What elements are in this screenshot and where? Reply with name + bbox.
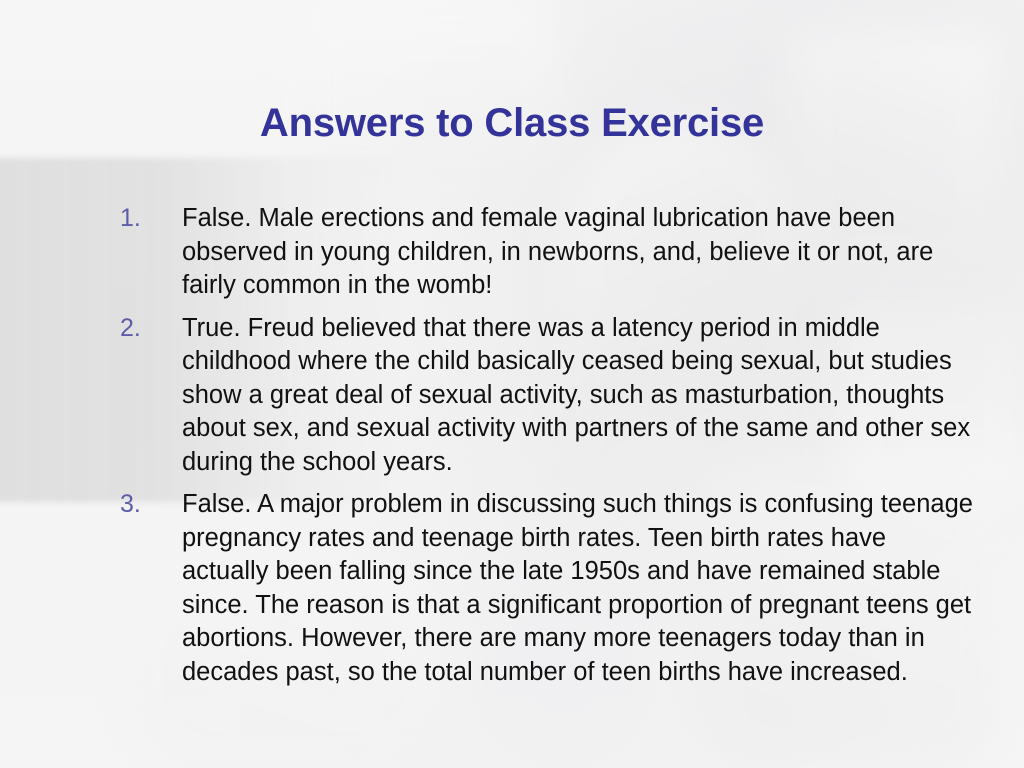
slide-title: Answers to Class Exercise xyxy=(0,101,1024,145)
background-blur-shape xyxy=(300,0,560,180)
list-item-number: 3. xyxy=(120,488,182,522)
list-item: 1. False. Male erections and female vagi… xyxy=(40,202,1024,303)
slide-canvas: Answers to Class Exercise 1. False. Male… xyxy=(0,0,1024,768)
list-item: 2. True. Freud believed that there was a… xyxy=(40,312,1024,480)
list-item-text: False. Male erections and female vaginal… xyxy=(182,202,977,303)
list-item-text: False. A major problem in discussing suc… xyxy=(182,488,978,689)
list-item-text: True. Freud believed that there was a la… xyxy=(182,312,982,480)
list-item-number: 1. xyxy=(120,202,182,236)
list-item: 3. False. A major problem in discussing … xyxy=(40,488,1024,689)
answers-list: 1. False. Male erections and female vagi… xyxy=(0,202,1024,698)
list-item-number: 2. xyxy=(120,312,182,346)
